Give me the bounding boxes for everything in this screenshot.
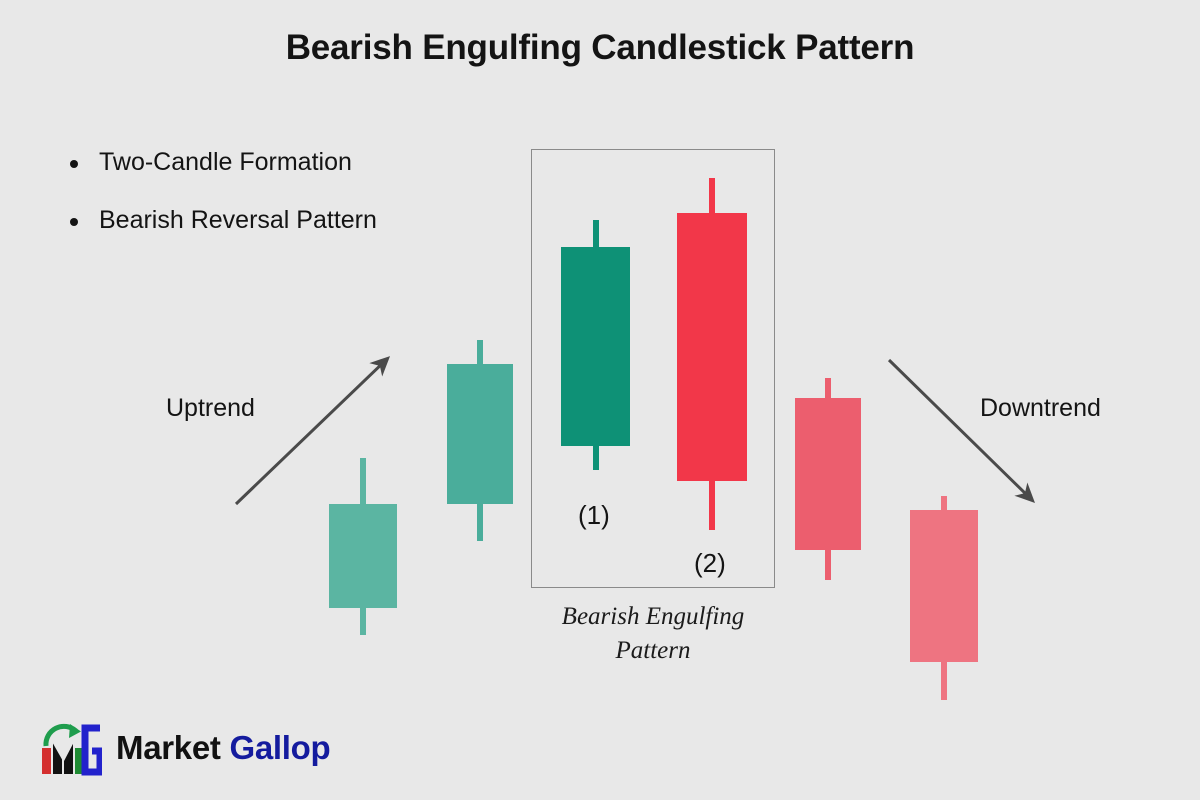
candlestick-3-bullish-pattern [561,220,630,470]
candle-label-2: (2) [694,548,726,579]
candlestick-1 [329,458,397,635]
candle-body [561,247,630,446]
candle-body [329,504,397,608]
market-gallop-mark-icon [40,718,102,776]
list-item: Two-Candle Formation [70,148,377,177]
uptrend-label: Uptrend [166,394,255,423]
list-item: Bearish Reversal Pattern [70,206,377,235]
downtrend-label: Downtrend [980,394,1101,423]
brand-logo: Market Gallop [40,718,330,776]
brand-word-market: Market [116,729,221,766]
candle-body [447,364,513,504]
pattern-caption-line-1: Bearish Engulfing [531,600,775,634]
pattern-caption-line-2: Pattern [531,634,775,668]
bullet-dot-icon [70,218,78,226]
pattern-caption: Bearish Engulfing Pattern [531,600,775,668]
candlestick-5 [795,378,861,580]
candle-body [795,398,861,550]
page-title: Bearish Engulfing Candlestick Pattern [0,28,1200,68]
brand-word-gallop: Gallop [229,729,330,766]
list-item-label: Two-Candle Formation [99,148,352,176]
key-points-list: Two-Candle Formation Bearish Reversal Pa… [42,148,377,264]
candlestick-6 [910,496,978,700]
candle-body [910,510,978,662]
candlestick-2 [447,340,513,541]
candle-body [677,213,747,481]
candle-label-1: (1) [578,500,610,531]
candlestick-4-bearish-engulfing [677,178,747,530]
list-item-label: Bearish Reversal Pattern [99,206,377,234]
diagram-canvas: Bearish Engulfing Candlestick Pattern Tw… [0,0,1200,800]
brand-logo-text: Market Gallop [116,731,330,764]
bullet-dot-icon [70,160,78,168]
